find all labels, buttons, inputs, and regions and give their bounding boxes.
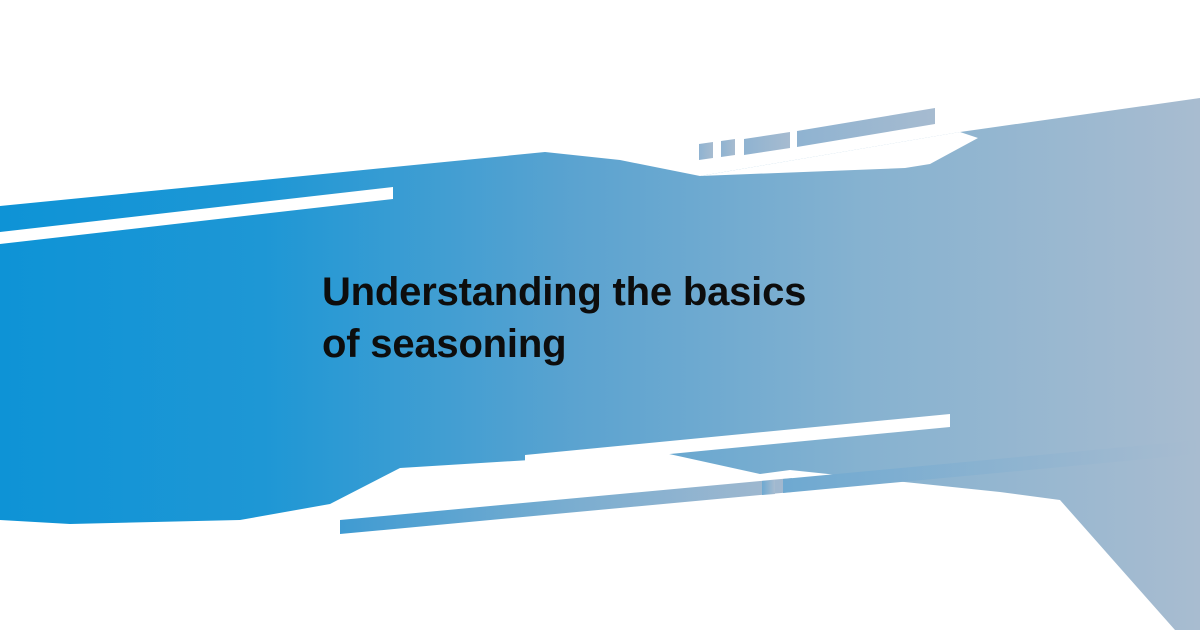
title-layer: Understanding the basics of seasoning [0,0,1200,630]
page-title: Understanding the basics of seasoning [322,266,962,370]
banner-canvas: Understanding the basics of seasoning [0,0,1200,630]
